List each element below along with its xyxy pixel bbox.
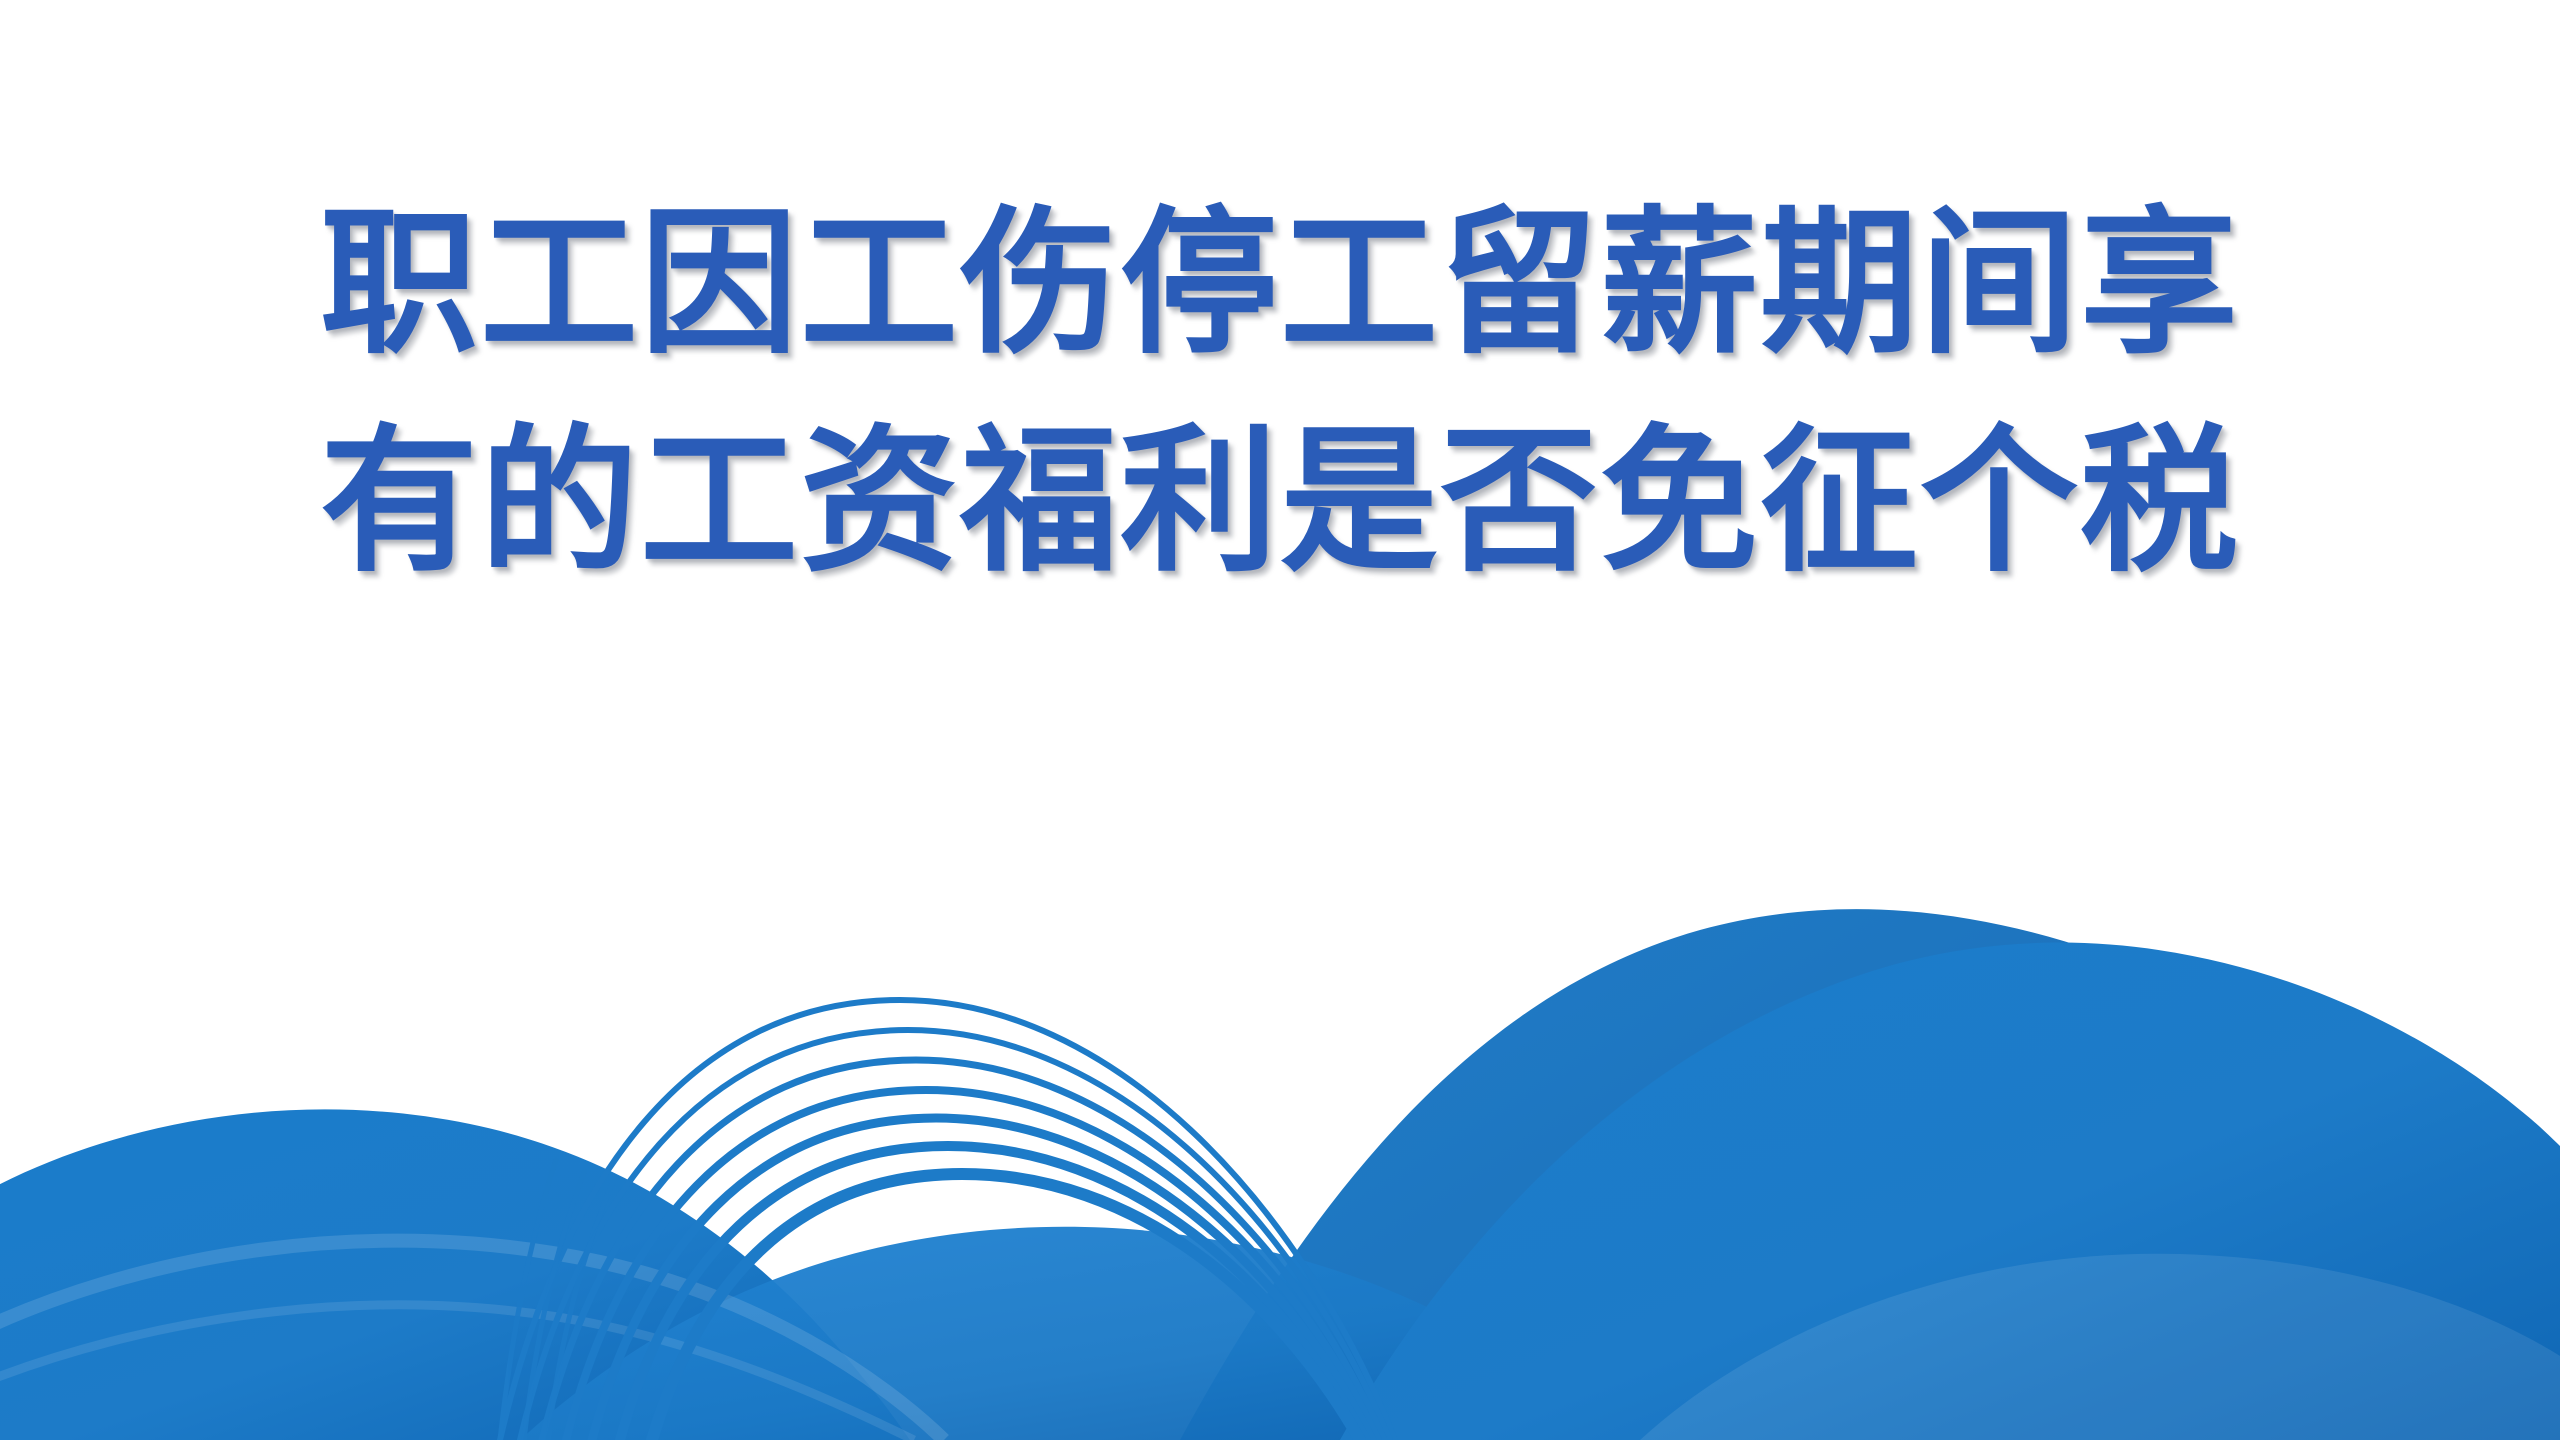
title-card-canvas: 职工因工伤停工留薪期间享 有的工资福利是否免征个税	[0, 0, 2560, 1440]
title-line-1: 职工因工伤停工留薪期间享	[320, 188, 2240, 380]
title-line-2: 有的工资福利是否免征个税	[320, 406, 2240, 598]
page-title: 职工因工伤停工留薪期间享 有的工资福利是否免征个税	[0, 0, 2560, 1440]
